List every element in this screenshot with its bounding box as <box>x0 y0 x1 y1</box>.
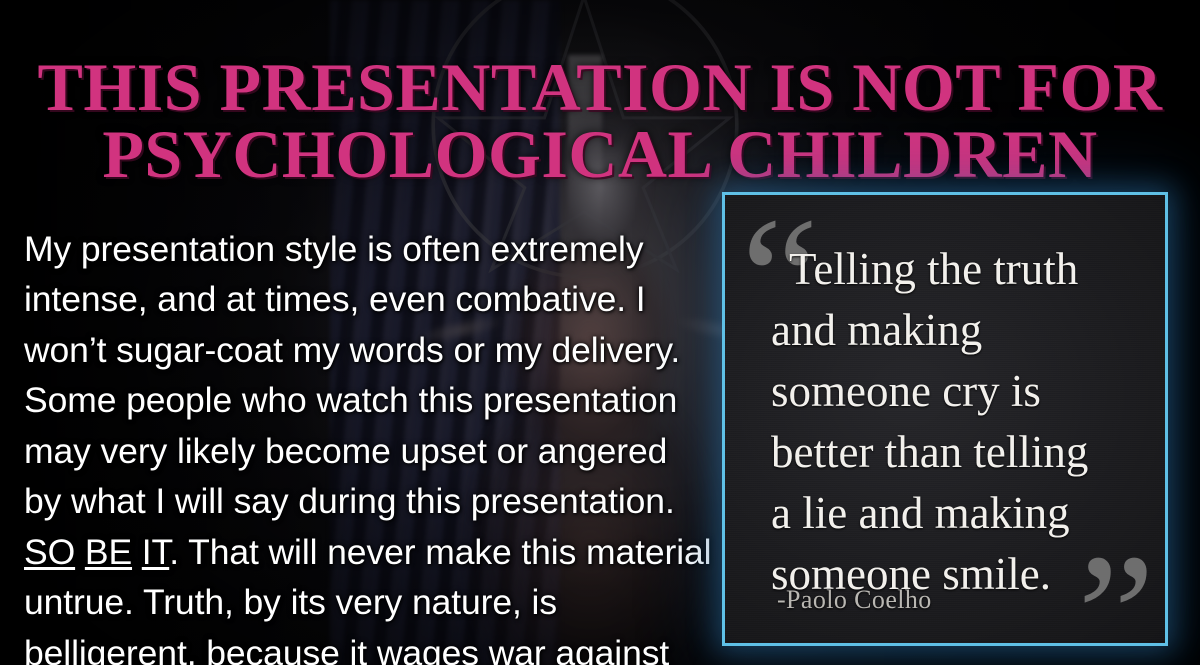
quote-card: “ Telling the truth and making someone c… <box>722 192 1168 646</box>
slide-title-line-2: PSYCHOLOGICAL CHILDREN <box>14 121 1186 188</box>
quote-line-1: Telling the truth <box>771 239 1161 300</box>
slide-title: THIS PRESENTATION IS NOT FOR PSYCHOLOGIC… <box>0 54 1200 189</box>
slide-title-line-1: THIS PRESENTATION IS NOT FOR <box>14 54 1186 121</box>
body-text-part-1: My presentation style is often extremely… <box>24 229 680 522</box>
quote-line-5: a lie and making <box>771 483 1161 544</box>
quote-line-2: and making <box>771 300 1161 361</box>
body-emphasis-it: IT <box>142 532 169 572</box>
quote-line-4: better than telling <box>771 422 1161 483</box>
quote-text: Telling the truth and making someone cry… <box>771 239 1161 605</box>
quote-author: -Paolo Coelho <box>777 585 932 615</box>
quote-line-3: someone cry is <box>771 361 1161 422</box>
body-emphasis-so: SO <box>24 532 75 572</box>
presentation-slide: THIS PRESENTATION IS NOT FOR PSYCHOLOGIC… <box>0 0 1200 665</box>
slide-body-paragraph: My presentation style is often extremely… <box>24 224 714 665</box>
body-emphasis-be: BE <box>85 532 132 572</box>
